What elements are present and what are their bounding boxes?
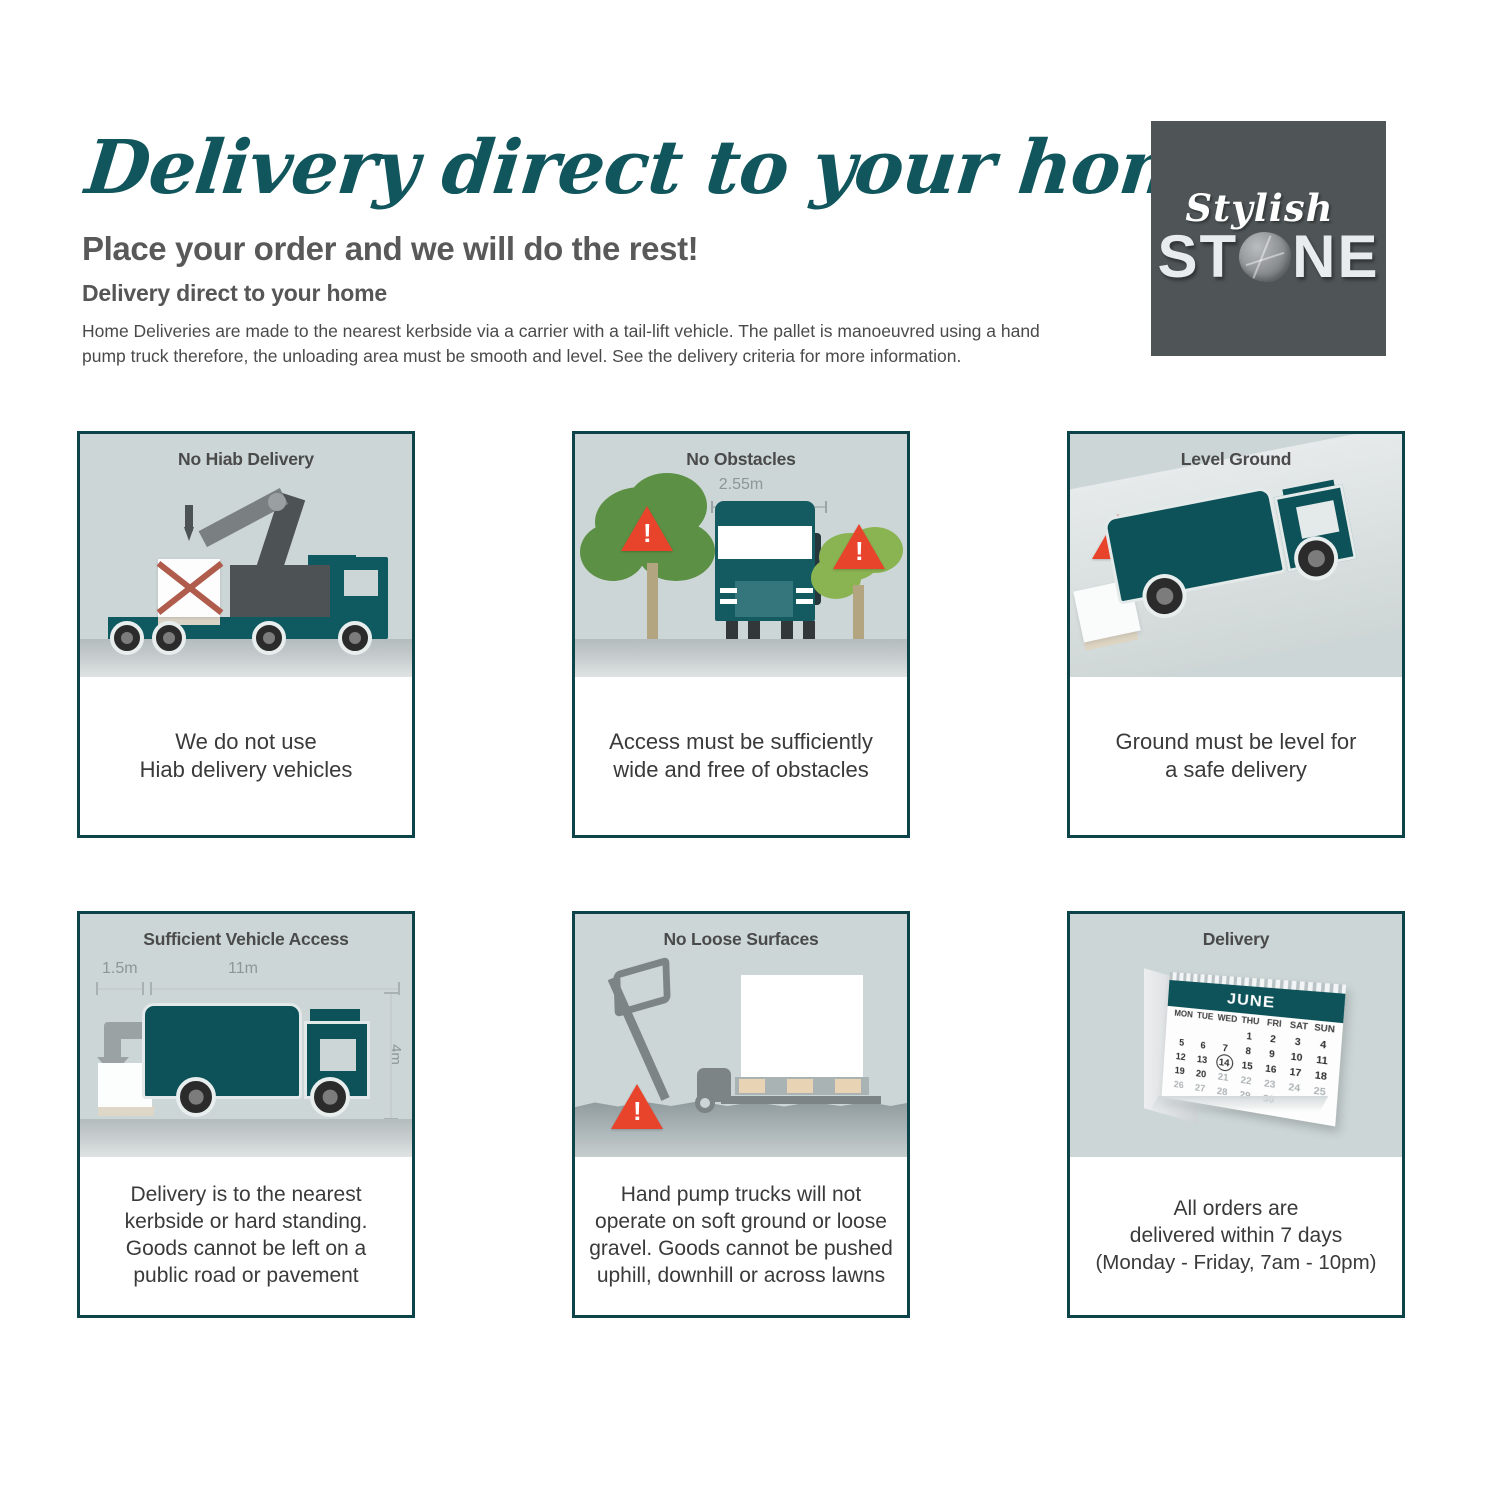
warning-triangle-icon: ! (833, 524, 885, 569)
card-caption: All orders are delivered within 7 days (… (1070, 1157, 1402, 1315)
truck-wheel (310, 1077, 350, 1117)
truck-wheel (152, 621, 186, 655)
caption-line: public road or pavement (125, 1263, 368, 1290)
card-title: Sufficient Vehicle Access (80, 929, 412, 950)
card-illustration: Sufficient Vehicle Access 1.5m 11m 4m (80, 914, 412, 1157)
intro-paragraph: Home Deliveries are made to the nearest … (82, 319, 1072, 370)
card-title: No Obstacles (575, 449, 907, 470)
caption-line: wide and free of obstacles (609, 756, 873, 784)
card-delivery: Delivery JUNE MONTUEWEDTHUFRISATSUN 1234… (1067, 911, 1405, 1318)
card-illustration: No Loose Surfaces ! (575, 914, 907, 1157)
caption-line: operate on soft ground or loose (589, 1209, 893, 1236)
stone-icon (1239, 232, 1291, 282)
pallet-slat (739, 1079, 765, 1093)
brand-logo: Stylish ST NE (1151, 121, 1386, 356)
card-caption: Delivery is to the nearest kerbside or h… (80, 1157, 412, 1315)
caption-line: All orders are (1095, 1196, 1376, 1223)
infographic-page: Delivery direct to your home Place your … (0, 0, 1500, 1500)
truck-lamp (720, 588, 737, 593)
calendar-weekday-header: FRI (1262, 1017, 1287, 1029)
pump-truck-wheel (695, 1093, 715, 1113)
card-illustration: No Obstacles 2.55m ! (575, 434, 907, 677)
caption-line: uphill, downhill or across lawns (589, 1263, 893, 1290)
dimension-label-large-width: 11m (228, 960, 258, 978)
caption-line: Hand pump trucks will not (589, 1182, 893, 1209)
card-no-loose-surfaces: No Loose Surfaces ! Hand pump trucks wil… (572, 911, 910, 1318)
card-title: No Hiab Delivery (80, 449, 412, 470)
card-no-obstacles: No Obstacles 2.55m ! (572, 431, 910, 838)
card-title: Delivery (1070, 929, 1402, 950)
calendar-weekday-header: WED (1216, 1013, 1239, 1025)
caption-line: Goods cannot be left on a (125, 1236, 368, 1263)
card-sufficient-vehicle-access: Sufficient Vehicle Access 1.5m 11m 4m (77, 911, 415, 1318)
truck-wheel (176, 1077, 216, 1117)
truck-leg (726, 621, 738, 639)
tree-trunk (853, 585, 864, 639)
card-illustration: No Hiab Delivery (80, 434, 412, 677)
caption-line: Access must be sufficiently (609, 728, 873, 756)
dimension-tick (384, 992, 398, 994)
logo-stone-suffix: NE (1292, 222, 1379, 291)
truck-lamp (720, 599, 737, 604)
dimension-tick (96, 982, 98, 995)
card-title: No Loose Surfaces (575, 929, 907, 950)
pump-truck-handle (613, 956, 670, 1017)
card-level-ground: Level Ground ! Ground must be level for (1067, 431, 1405, 838)
ground-strip (80, 1119, 412, 1157)
dimension-line-vertical (390, 992, 392, 1120)
calendar-weekday-header: TUE (1194, 1011, 1217, 1022)
logo-stone-prefix: ST (1157, 222, 1238, 291)
pump-truck-forks (721, 1096, 881, 1104)
ground-strip (575, 639, 907, 677)
truck-body (1103, 486, 1287, 605)
calendar-day: 26 (1168, 1076, 1190, 1093)
truck-cab-window (341, 567, 381, 599)
caption-line: Hiab delivery vehicles (140, 756, 353, 784)
calendar-weekday-header: THU (1238, 1015, 1262, 1027)
truck-grille (735, 581, 793, 617)
pallet-slat (835, 1079, 861, 1093)
caption-line: kerbside or hard standing. (125, 1209, 368, 1236)
card-illustration: Delivery JUNE MONTUEWEDTHUFRISATSUN 1234… (1070, 914, 1402, 1157)
truck-leg (803, 621, 815, 639)
truck-wheel (252, 621, 286, 655)
tree-trunk (647, 563, 658, 639)
calendar-day: 14 (1213, 1054, 1237, 1072)
calendar-weekday-header: SUN (1311, 1022, 1338, 1035)
header: Delivery direct to your home Place your … (82, 130, 1082, 369)
truck-lamp (796, 588, 813, 593)
truck-leg (748, 621, 760, 639)
dimension-tick (150, 982, 152, 995)
pallet-slat (787, 1079, 813, 1093)
truck-wheel (110, 621, 144, 655)
truck-leg (781, 621, 793, 639)
caption-line: delivered within 7 days (1095, 1223, 1376, 1250)
truck-lamp (796, 599, 813, 604)
calendar-shadow (1150, 1096, 1329, 1112)
page-title: Delivery direct to your home (82, 130, 1090, 208)
truck-windscreen (718, 526, 812, 559)
card-illustration: Level Ground ! (1070, 434, 1402, 677)
truck-body (142, 1003, 302, 1099)
card-caption: Ground must be level for a safe delivery (1070, 677, 1402, 835)
warning-triangle-icon: ! (621, 506, 673, 551)
card-caption: We do not use Hiab delivery vehicles (80, 677, 412, 835)
calendar-weekday-header: SAT (1286, 1020, 1312, 1032)
desk-calendar: JUNE MONTUEWEDTHUFRISATSUN 1234567891011… (1136, 966, 1336, 1126)
card-caption: Hand pump trucks will not operate on sof… (575, 1157, 907, 1315)
calendar-day: 27 (1189, 1079, 1212, 1097)
crane-joint (268, 493, 286, 511)
warning-triangle-icon: ! (611, 1084, 663, 1129)
dimension-line (96, 988, 142, 990)
page-subtitle: Place your order and we will do the rest… (82, 230, 1082, 268)
dimension-tick (398, 982, 400, 995)
calendar-weekday-header: MON (1173, 1008, 1195, 1019)
caption-line: We do not use (140, 728, 353, 756)
card-title: Level Ground (1070, 449, 1402, 470)
crane-hook-icon (184, 527, 194, 541)
truck-cab-window (320, 1039, 356, 1071)
criteria-card-grid: No Hiab Delivery (77, 431, 1412, 1318)
pallet-base (98, 1106, 154, 1116)
section-heading: Delivery direct to your home (82, 280, 1082, 307)
card-no-hiab-delivery: No Hiab Delivery (77, 431, 415, 838)
caption-line: gravel. Goods cannot be pushed (589, 1236, 893, 1263)
truck-wheel (338, 621, 372, 655)
dimension-label-small-width: 1.5m (102, 960, 138, 978)
pallet-load (741, 975, 863, 1077)
dimension-line (150, 988, 400, 990)
dimension-tick (142, 982, 144, 995)
caption-line: a safe delivery (1116, 756, 1357, 784)
logo-stone-word: ST NE (1157, 222, 1379, 291)
card-caption: Access must be sufficiently wide and fre… (575, 677, 907, 835)
caption-line: Ground must be level for (1116, 728, 1357, 756)
caption-sub-line: (Monday - Friday, 7am - 10pm) (1095, 1250, 1376, 1276)
caption-line: Delivery is to the nearest (125, 1182, 368, 1209)
